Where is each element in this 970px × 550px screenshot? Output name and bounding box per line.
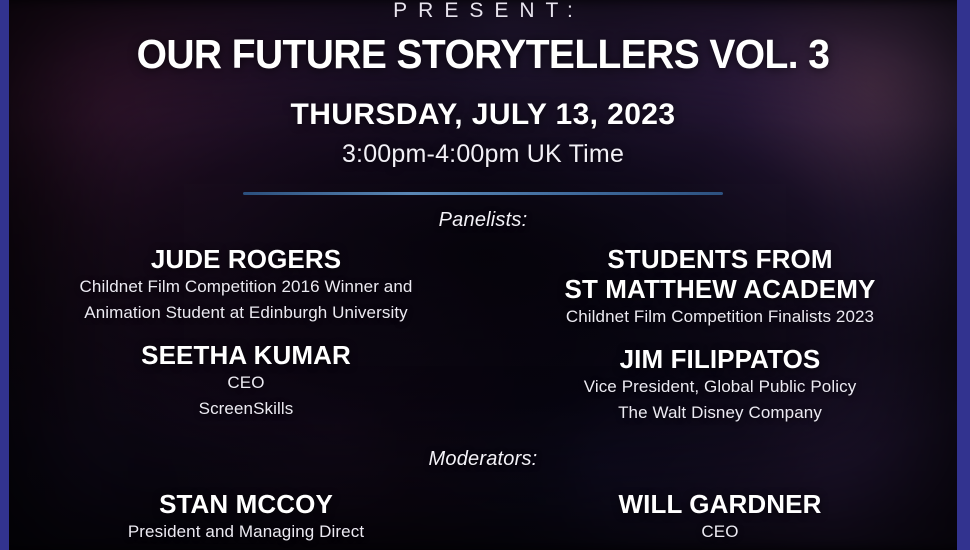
moderators-column-right: WILL GARDNER CEO [483,489,957,545]
moderator-entry: STAN MCCOY President and Managing Direct [19,489,473,545]
left-border-rail [0,0,9,550]
panelist-entry: JUDE ROGERS Childnet Film Competition 20… [19,244,473,326]
panelist-entry: SEETHA KUMAR CEO ScreenSkills [19,340,473,422]
event-date: THURSDAY, JULY 13, 2023 [9,98,957,132]
page-title: OUR FUTURE STORYTELLERS VOL. 3 [33,30,934,78]
poster-content: PRESENT: OUR FUTURE STORYTELLERS VOL. 3 … [9,0,957,550]
panelist-role: CEO ScreenSkills [19,370,473,422]
moderators-column-left: STAN MCCOY President and Managing Direct [9,489,483,545]
divider [243,192,723,195]
moderator-name: WILL GARDNER [493,489,947,519]
panelists-column-right: STUDENTS FROM ST MATTHEW ACADEMY Childne… [483,244,957,426]
moderators-label: Moderators: [9,448,957,471]
moderator-role: CEO [493,519,947,545]
panelists-label: Panelists: [9,209,957,232]
panelist-role: Childnet Film Competition 2016 Winner an… [19,274,473,326]
moderator-entry: WILL GARDNER CEO [493,489,947,545]
event-time: 3:00pm-4:00pm UK Time [9,140,957,168]
panelist-name: JIM FILIPPATOS [493,344,947,374]
panelist-name: STUDENTS FROM ST MATTHEW ACADEMY [493,244,947,304]
panelist-name: JUDE ROGERS [19,244,473,274]
moderator-name: STAN MCCOY [19,489,473,519]
panelist-name: SEETHA KUMAR [19,340,473,370]
event-poster: PRESENT: OUR FUTURE STORYTELLERS VOL. 3 … [0,0,970,550]
right-border-rail [957,0,970,550]
panelist-role: Childnet Film Competition Finalists 2023 [493,304,947,330]
moderators-grid: STAN MCCOY President and Managing Direct… [9,489,957,545]
panelist-entry: JIM FILIPPATOS Vice President, Global Pu… [493,344,947,426]
panelists-grid: JUDE ROGERS Childnet Film Competition 20… [9,244,957,426]
panelist-entry: STUDENTS FROM ST MATTHEW ACADEMY Childne… [493,244,947,330]
panelist-role: Vice President, Global Public Policy The… [493,374,947,426]
present-label: PRESENT: [9,0,957,18]
moderator-role: President and Managing Direct [19,519,473,545]
panelists-column-left: JUDE ROGERS Childnet Film Competition 20… [9,244,483,426]
